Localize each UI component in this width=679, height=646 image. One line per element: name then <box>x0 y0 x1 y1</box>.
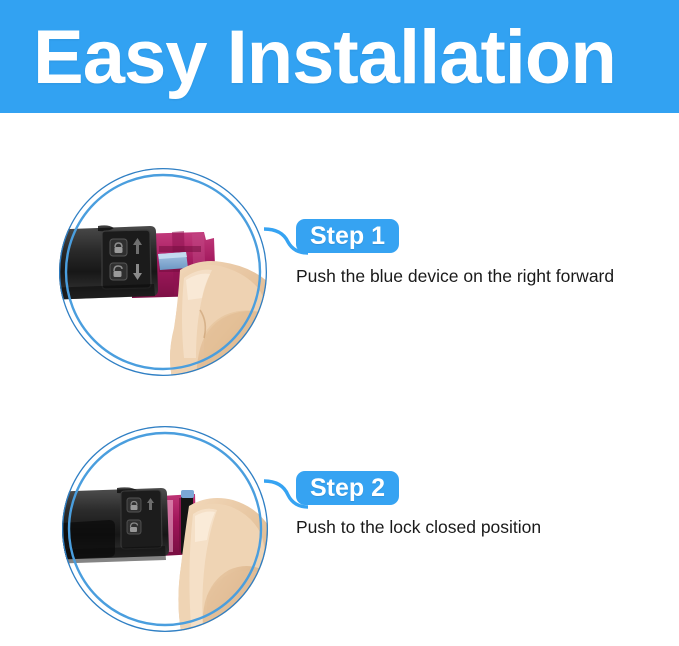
step-2-description: Push to the lock closed position <box>296 515 636 539</box>
step-section-2: Step 2 Push to the lock closed position <box>0 393 679 646</box>
step-2-photo <box>57 420 273 638</box>
lock-closed-icon <box>110 239 127 256</box>
step-2-badge-label: Step 2 <box>310 474 385 502</box>
lock-closed-icon <box>127 498 141 512</box>
step-1-badge: Step 1 <box>296 219 399 253</box>
cartridge-black-shell <box>54 225 158 300</box>
step-1-badge-label: Step 1 <box>310 222 385 250</box>
step-1-illustration <box>54 162 272 382</box>
lock-open-icon <box>127 520 141 534</box>
blue-slider-tab <box>158 252 188 270</box>
step-section-1: Step 1 Push the blue device on the right… <box>0 113 679 393</box>
step-2-illustration <box>57 420 273 638</box>
step-2-badge: Step 2 <box>296 471 399 505</box>
hand-fingers <box>170 261 272 382</box>
hand-fingers <box>178 498 273 638</box>
lock-open-icon <box>110 263 127 280</box>
page-title: Easy Installation <box>33 14 616 102</box>
header-banner: Easy Installation <box>0 0 679 113</box>
step-1-photo <box>54 162 272 382</box>
step-1-description: Push the blue device on the right forwar… <box>296 264 636 288</box>
